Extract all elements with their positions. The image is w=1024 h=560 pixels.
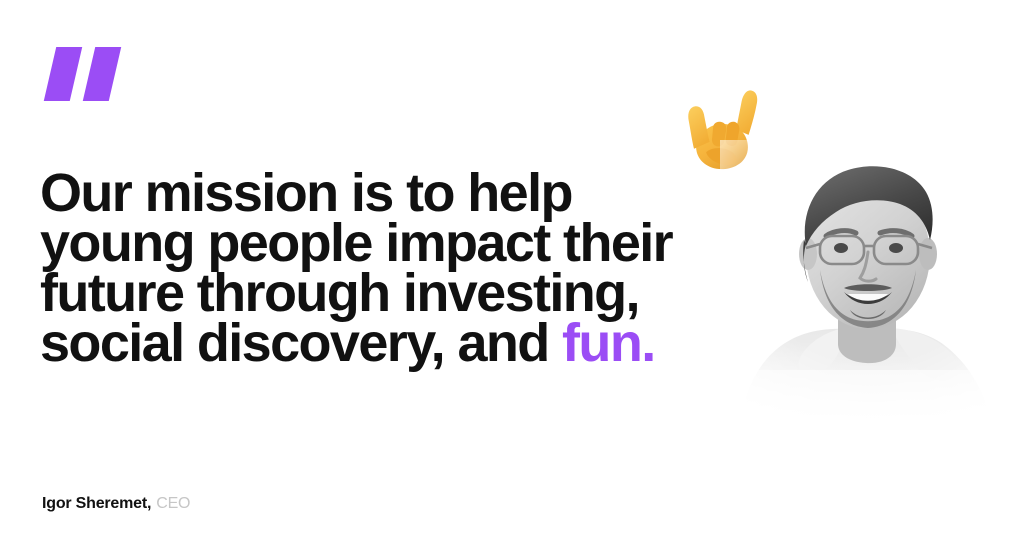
quote-accent-word: fun. bbox=[562, 313, 655, 373]
quote-line-4: social discovery, and fun. bbox=[40, 318, 740, 368]
quotation-mark-bar-left bbox=[44, 47, 82, 101]
quote-card: Our mission is to help young people impa… bbox=[0, 0, 1024, 560]
quotation-mark-bar-right bbox=[83, 47, 121, 101]
attribution: Igor Sheremet,CEO bbox=[42, 494, 190, 514]
attribution-name: Igor Sheremet, bbox=[42, 495, 151, 512]
quote-text: Our mission is to help young people impa… bbox=[40, 168, 740, 368]
igor-sheremet-portrait bbox=[720, 140, 1024, 430]
quotation-mark-icon bbox=[44, 47, 120, 101]
quote-line-2: young people impact their bbox=[40, 218, 740, 268]
quote-line-4-text: social discovery, and bbox=[40, 313, 562, 373]
quote-line-1: Our mission is to help bbox=[40, 168, 740, 218]
quote-line-3: future through investing, bbox=[40, 268, 740, 318]
attribution-role: CEO bbox=[156, 495, 190, 512]
